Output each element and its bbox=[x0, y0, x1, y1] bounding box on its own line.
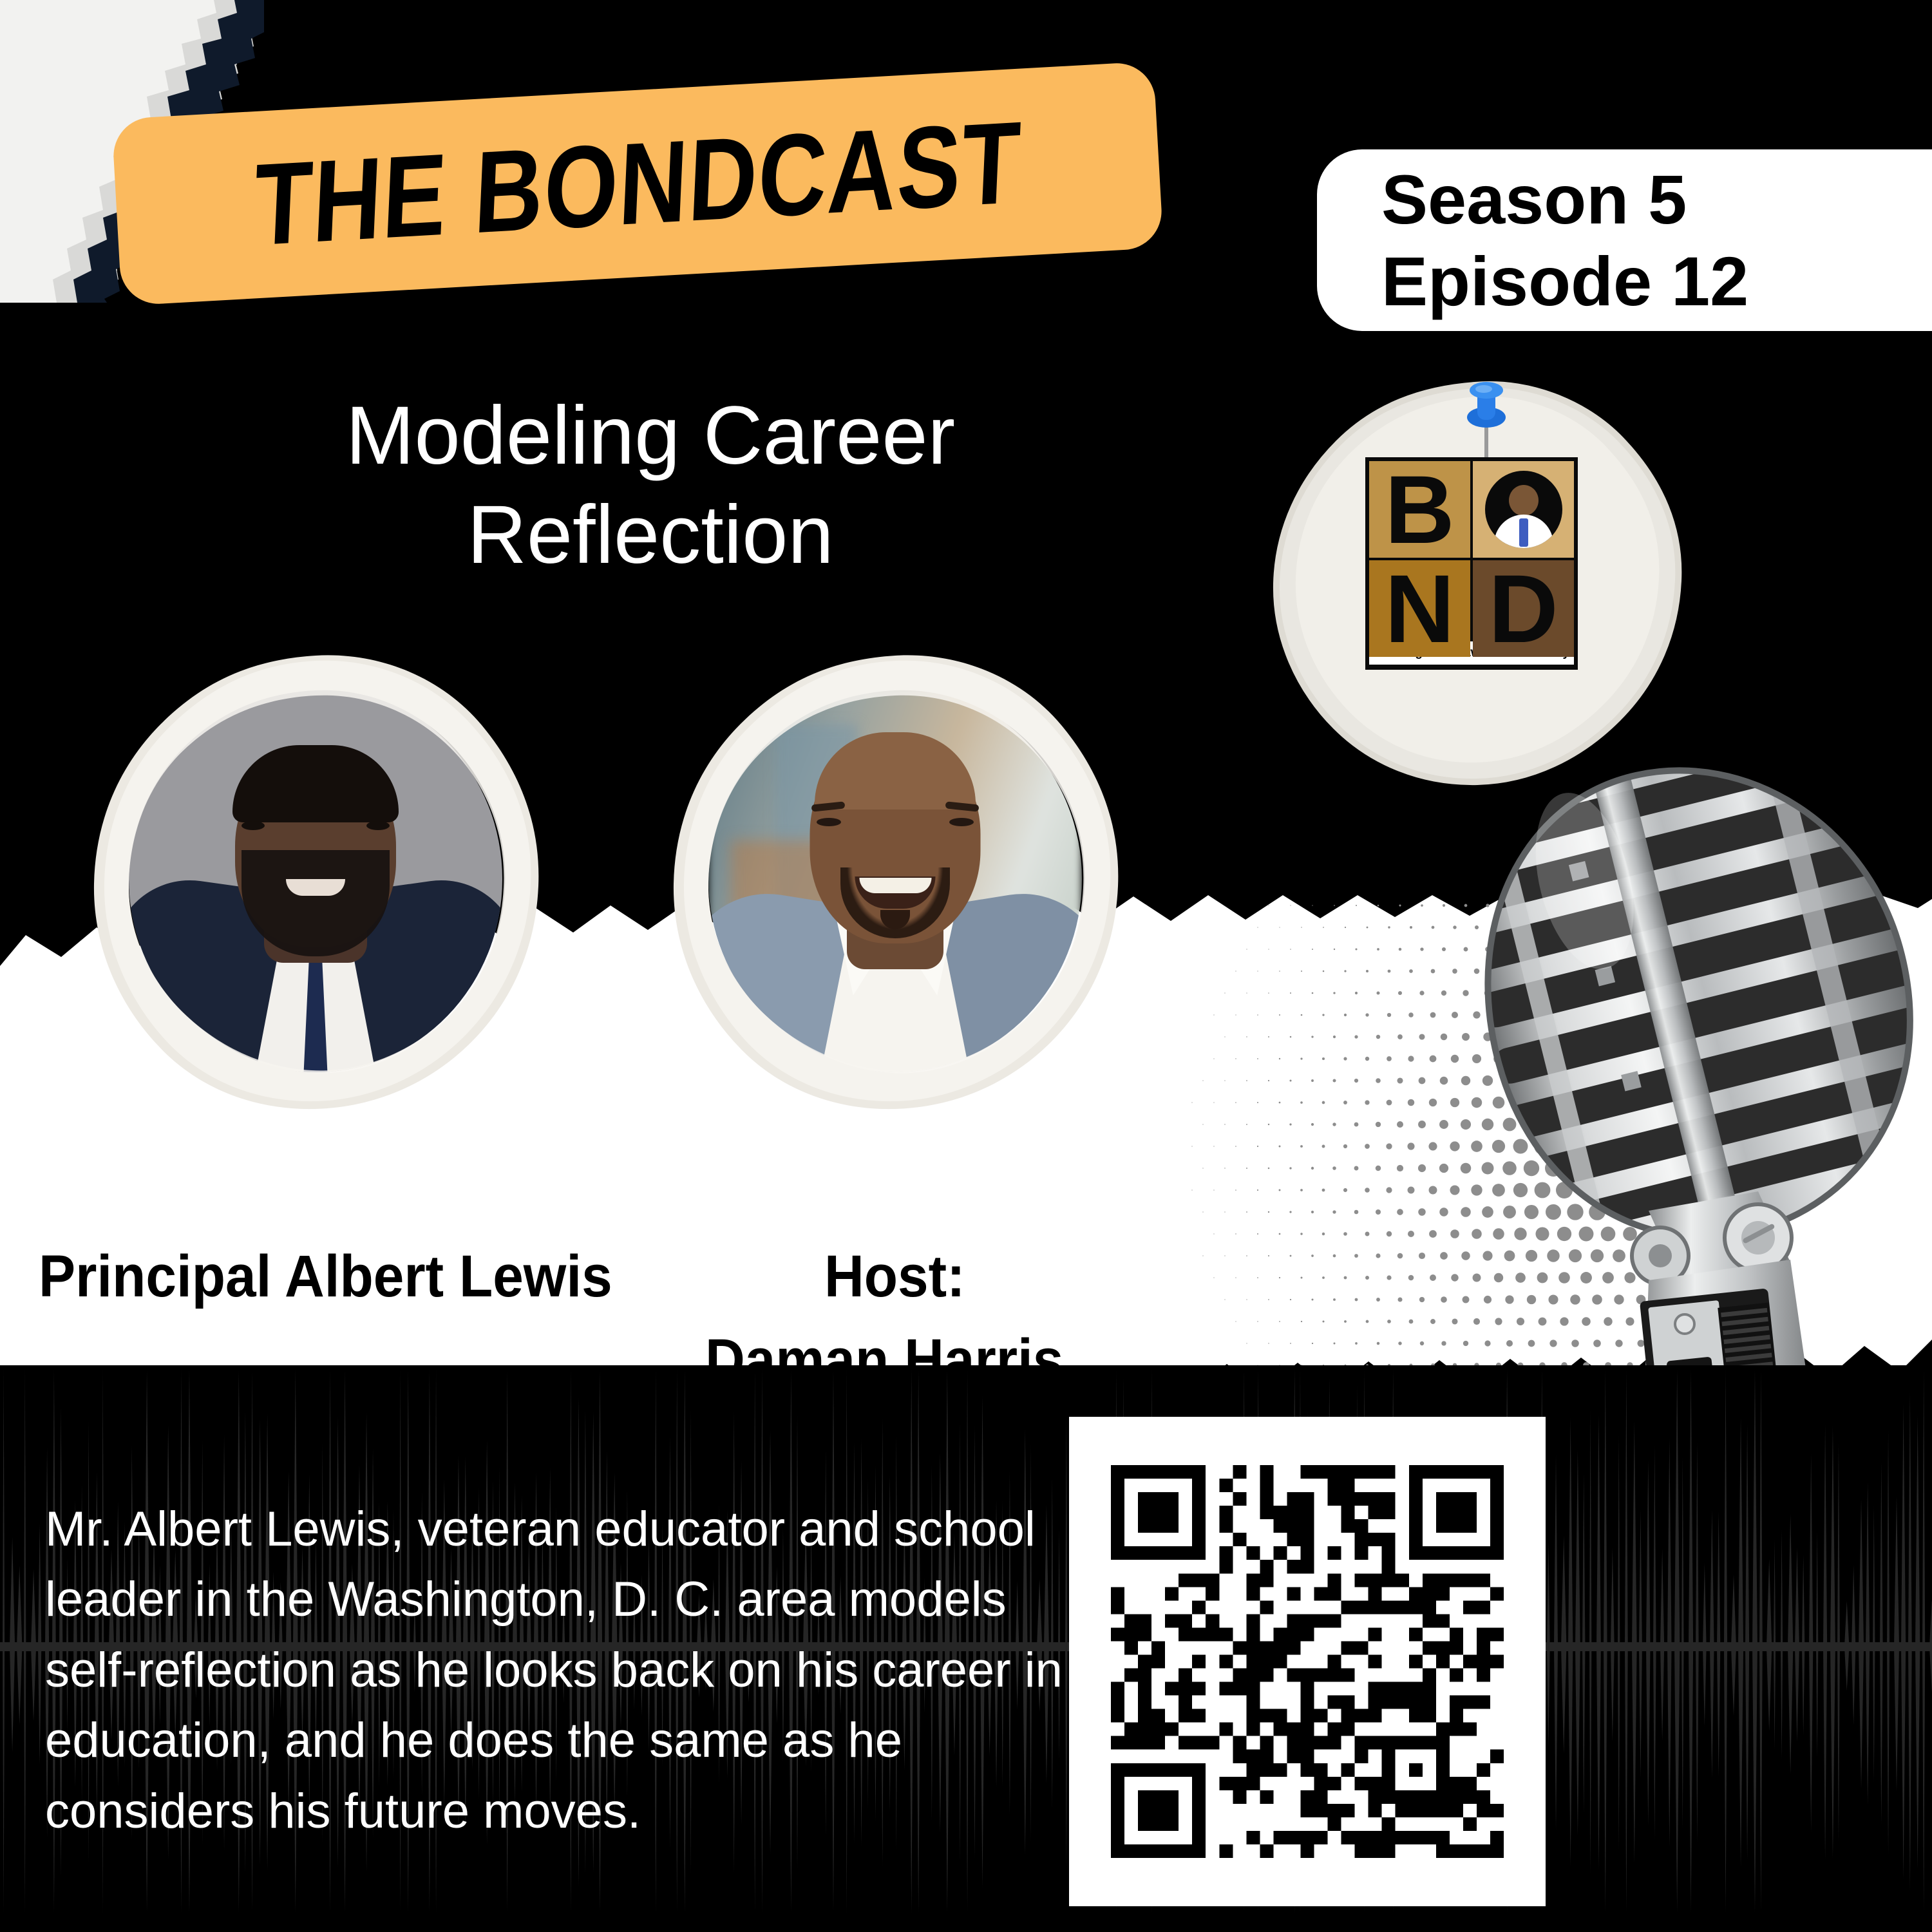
show-title-text: THE BONDCAST bbox=[251, 95, 1024, 272]
season-label: Season 5 bbox=[1381, 158, 1687, 240]
guest-photo-albert-lewis bbox=[90, 650, 541, 1114]
episode-title-line2: Reflection bbox=[193, 486, 1108, 585]
bond-logo-card: B N D Building Our Network of Diversity bbox=[1365, 457, 1578, 670]
qr-code[interactable] bbox=[1111, 1465, 1504, 1858]
guest-name-label: Principal Albert Lewis bbox=[39, 1243, 612, 1311]
bond-logo-grid: B N D bbox=[1369, 461, 1574, 641]
episode-label: Episode 12 bbox=[1381, 240, 1748, 322]
bond-letter-b: B bbox=[1369, 461, 1470, 558]
season-episode-badge: Season 5 Episode 12 bbox=[1317, 149, 1932, 331]
episode-title: Modeling Career Reflection bbox=[193, 386, 1108, 584]
bond-letter-o bbox=[1473, 461, 1574, 558]
episode-description: Mr. Albert Lewis, veteran educator and s… bbox=[45, 1494, 1075, 1846]
show-title-banner: THE BONDCAST bbox=[111, 61, 1164, 306]
person-in-o-icon bbox=[1485, 471, 1562, 548]
bond-letter-d: D bbox=[1473, 560, 1574, 657]
qr-code-panel[interactable] bbox=[1069, 1417, 1546, 1906]
push-pin-icon bbox=[1461, 374, 1512, 470]
bond-letter-n: N bbox=[1369, 560, 1470, 657]
host-role-label: Host: bbox=[824, 1243, 965, 1311]
podcast-poster: THE BONDCAST Season 5 Episode 12 Modelin… bbox=[0, 0, 1932, 1932]
host-photo-daman-harris bbox=[670, 650, 1121, 1114]
torn-paper-ring-frame bbox=[90, 650, 541, 1114]
torn-paper-ring-frame bbox=[670, 650, 1121, 1114]
episode-title-line1: Modeling Career bbox=[193, 386, 1108, 486]
